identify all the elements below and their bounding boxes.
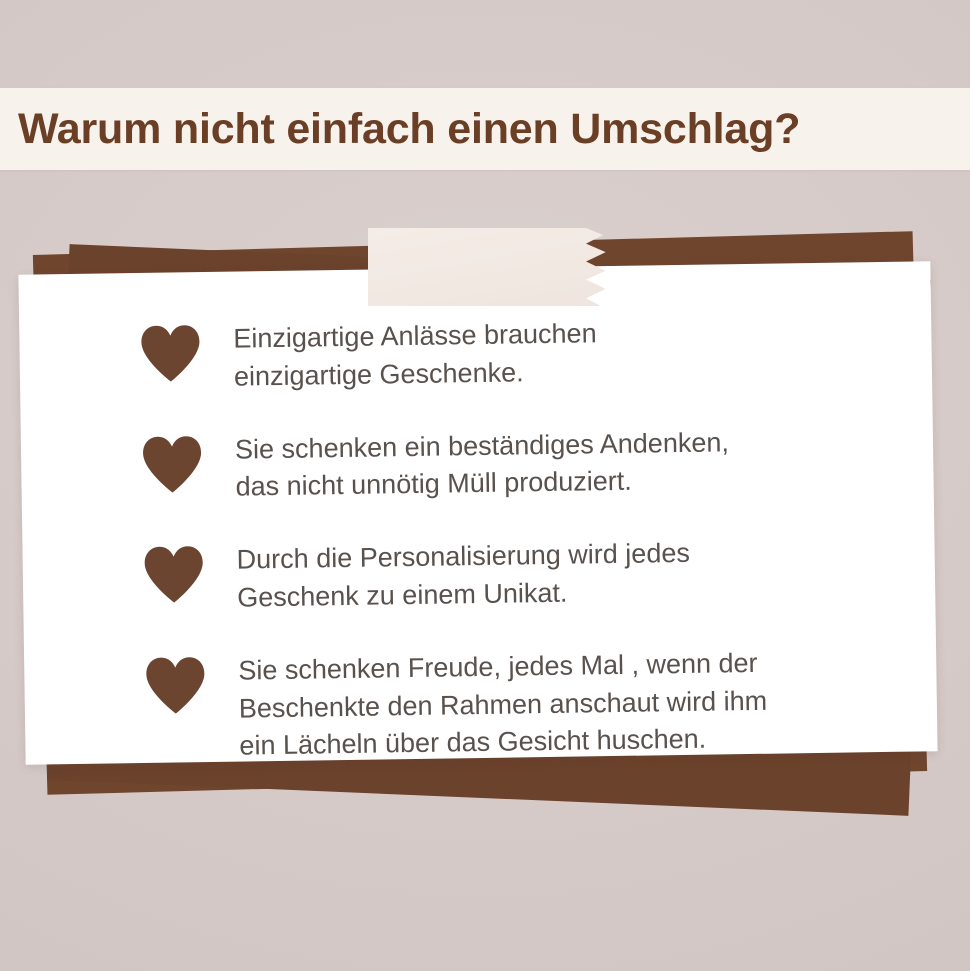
heart-icon — [139, 324, 202, 383]
list-item-text: Einzigartige Anlässe brauchen einzigarti… — [233, 314, 597, 396]
headline-banner: Warum nicht einfach einen Umschlag? — [0, 88, 970, 170]
washi-tape-icon — [368, 228, 613, 306]
heart-icon — [142, 545, 205, 604]
page-title: Warum nicht einfach einen Umschlag? — [18, 108, 800, 151]
list-item: Durch die Personalisierung wird jedes Ge… — [142, 531, 895, 619]
list-item: Einzigartige Anlässe brauchen einzigarti… — [139, 310, 892, 398]
card-content: Einzigartige Anlässe brauchen einzigarti… — [18, 261, 937, 764]
list-item-text: Durch die Personalisierung wird jedes Ge… — [236, 534, 690, 617]
heart-icon — [144, 656, 207, 715]
list-item-text: Sie schenken ein beständiges Andenken, d… — [235, 423, 730, 507]
list-item-text: Sie schenken Freude, jedes Mal , wenn de… — [238, 644, 768, 766]
list-item: Sie schenken ein beständiges Andenken, d… — [141, 420, 894, 508]
heart-icon — [141, 435, 204, 494]
list-item: Sie schenken Freude, jedes Mal , wenn de… — [144, 642, 898, 768]
